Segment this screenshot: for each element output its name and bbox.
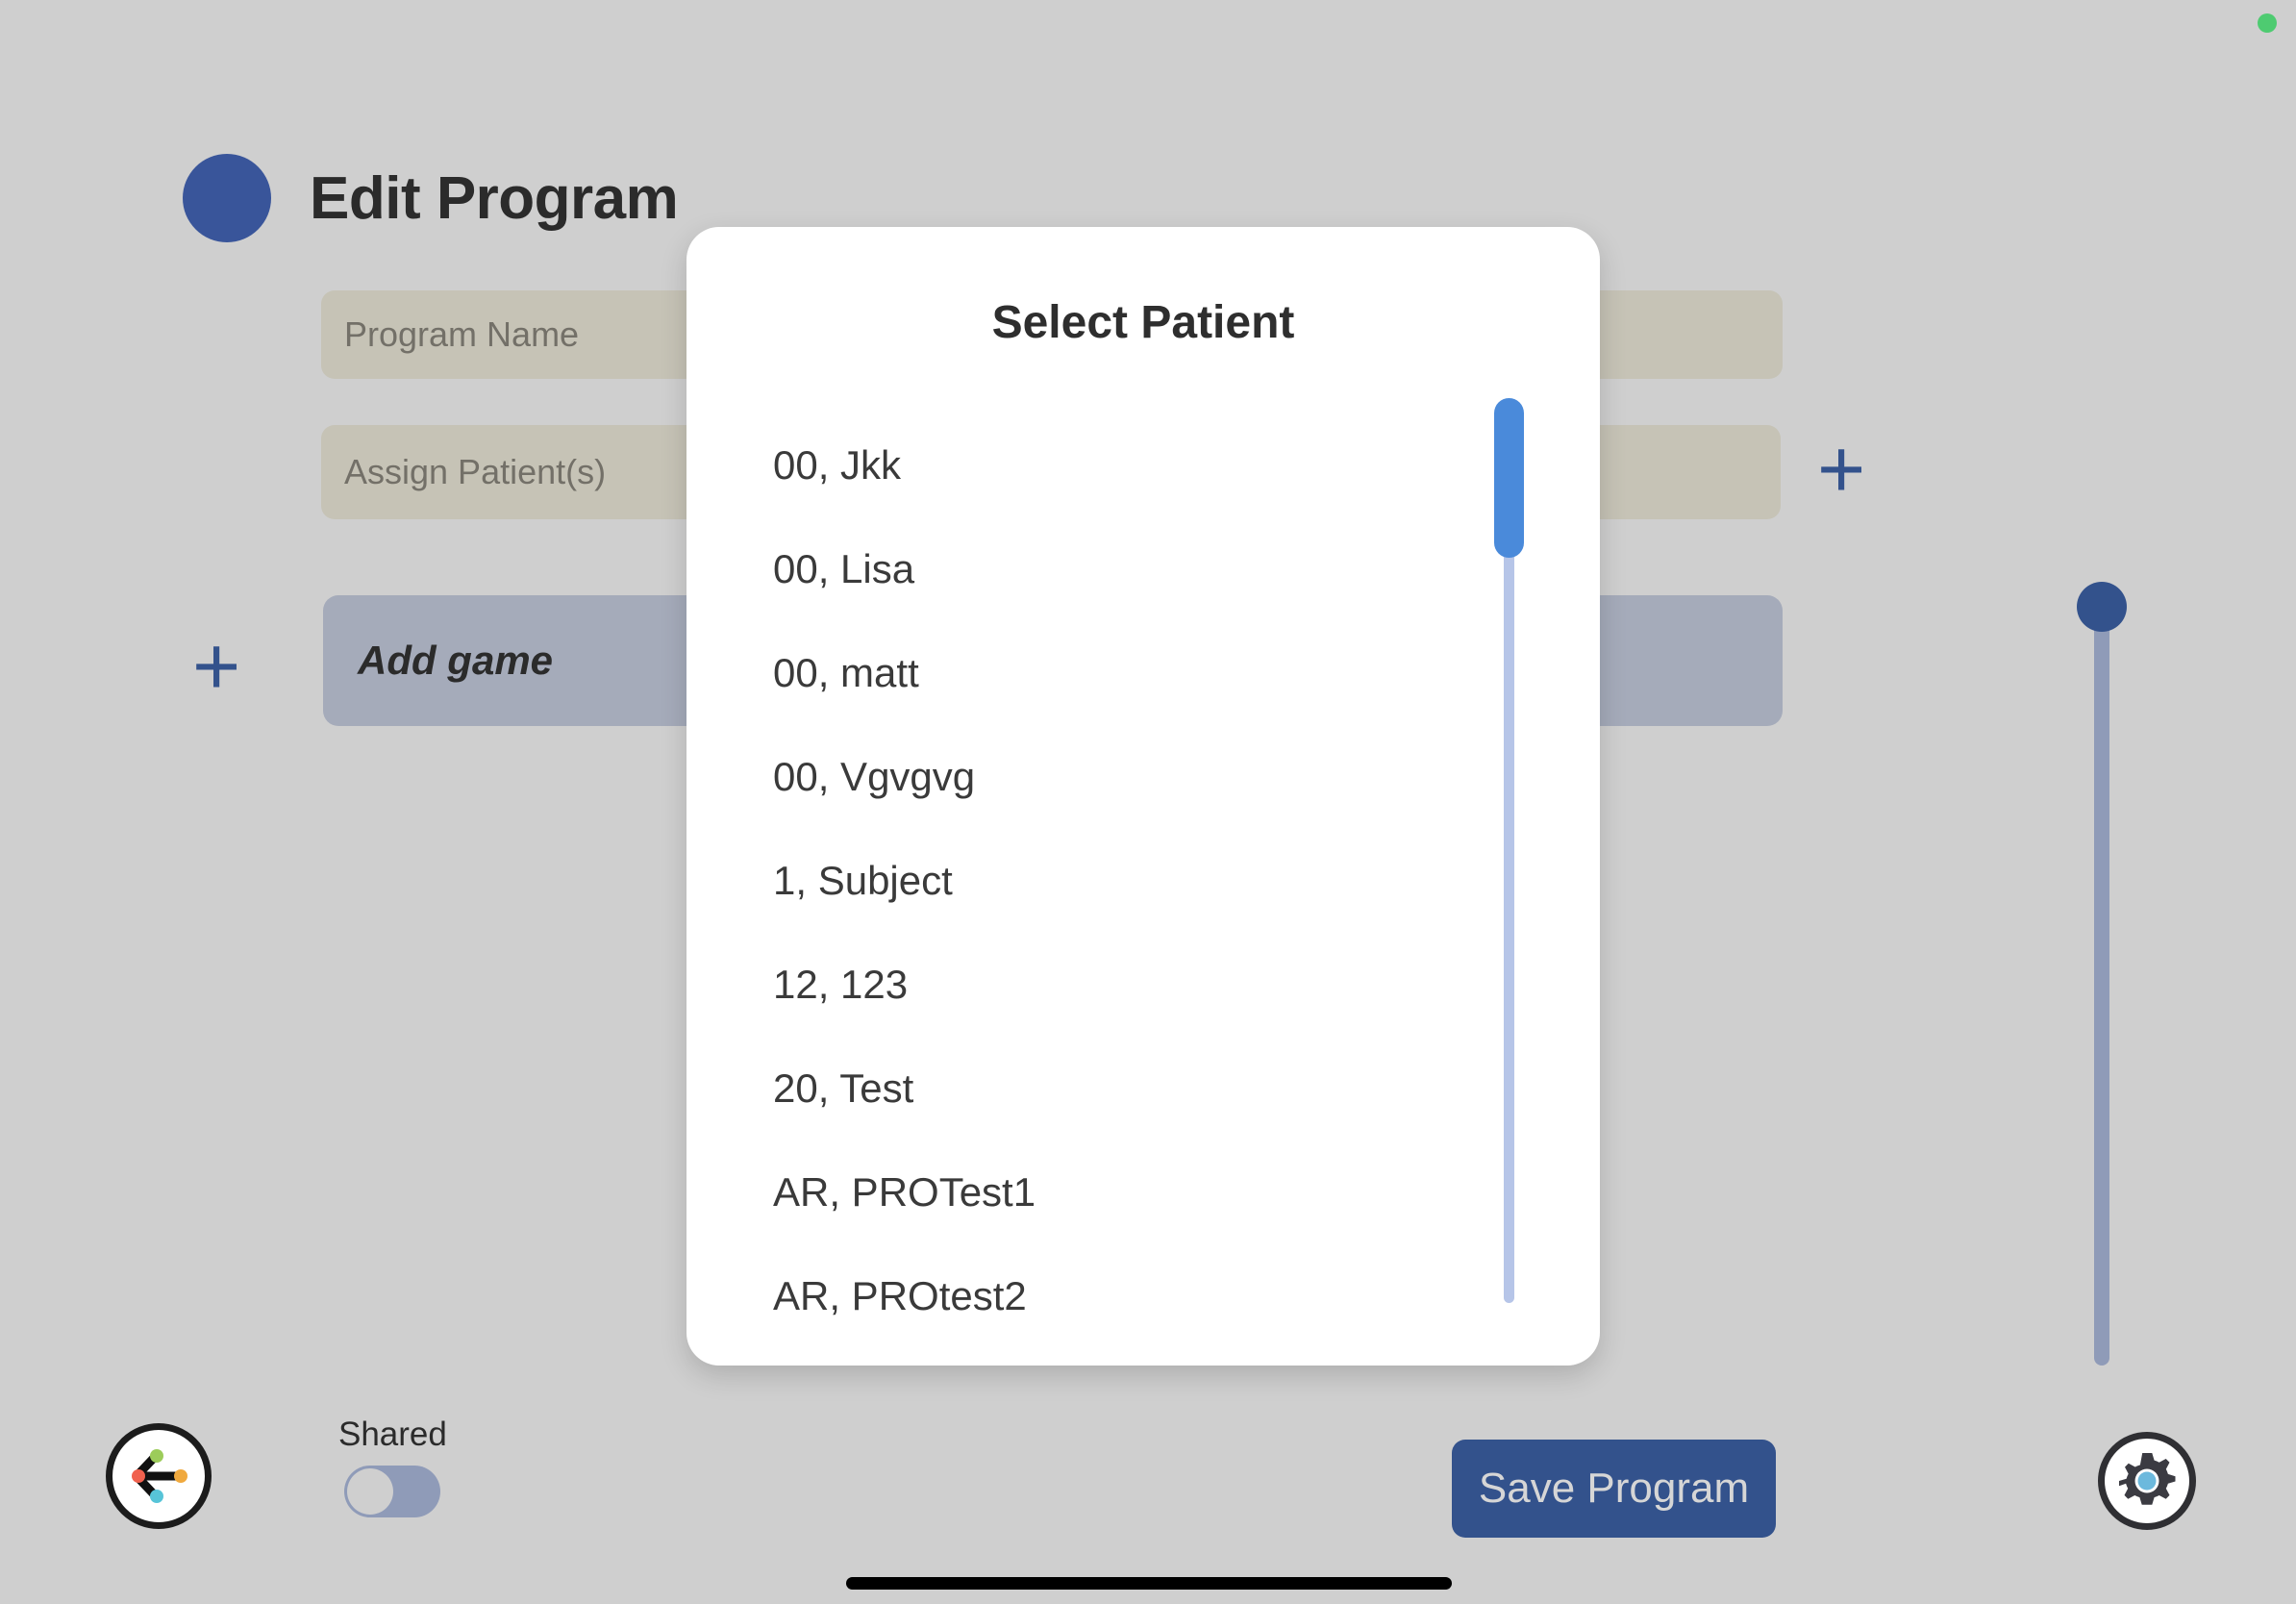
page-header: Edit Program [183, 154, 678, 242]
add-game-plus-icon[interactable]: + [192, 625, 240, 708]
patient-name: 12, 123 [773, 962, 908, 1008]
patient-name: 00, Vgvgvg [773, 754, 975, 800]
back-arrow-icon [123, 1441, 194, 1512]
home-indicator [846, 1577, 1452, 1590]
list-item[interactable]: 1, Subject [686, 829, 1600, 933]
patient-name: 00, Lisa [773, 546, 914, 592]
save-program-label: Save Program [1479, 1465, 1749, 1513]
settings-button[interactable] [2098, 1432, 2196, 1530]
patient-list[interactable]: 00, Jkk00, Lisa00, matt00, Vgvgvg1, Subj… [686, 414, 1600, 1366]
vertical-slider-track[interactable] [2094, 596, 2109, 1366]
vertical-slider-knob[interactable] [2077, 582, 2127, 632]
gear-icon [2115, 1449, 2179, 1513]
assign-patients-placeholder: Assign Patient(s) [344, 452, 606, 492]
list-item[interactable]: AR, PROtest2 [686, 1244, 1600, 1348]
avatar [183, 154, 271, 242]
add-game-label: Add game [358, 638, 553, 684]
list-item[interactable]: AR, PROTest1 [686, 1140, 1600, 1244]
dialog-scrollbar-thumb[interactable] [1494, 398, 1524, 558]
patient-name: 00, Jkk [773, 442, 901, 489]
patient-name: 00, matt [773, 650, 919, 696]
list-item[interactable]: 20, Test [686, 1037, 1600, 1140]
shared-toggle-group: Shared [338, 1416, 447, 1517]
list-item[interactable]: 00, Vgvgvg [686, 725, 1600, 829]
patient-name: 1, Subject [773, 858, 953, 904]
dialog-title: Select Patient [686, 296, 1600, 349]
list-item[interactable]: 00, Lisa [686, 517, 1600, 621]
status-dot-icon [2258, 13, 2277, 33]
list-item[interactable]: 00, matt [686, 621, 1600, 725]
app-screen: Edit Program Program Name Assign Patient… [0, 0, 2296, 1604]
program-name-placeholder: Program Name [344, 314, 579, 355]
list-item[interactable]: 00, Jkk [686, 414, 1600, 517]
list-item[interactable]: 12, 123 [686, 933, 1600, 1037]
shared-toggle[interactable] [344, 1466, 440, 1517]
shared-label: Shared [338, 1416, 447, 1454]
patient-name: AR, PROTest1 [773, 1169, 1036, 1216]
save-program-button[interactable]: Save Program [1452, 1440, 1776, 1538]
page-title: Edit Program [310, 164, 678, 233]
back-button[interactable] [106, 1423, 212, 1529]
patient-name: 20, Test [773, 1065, 913, 1112]
add-patient-plus-icon[interactable]: + [1817, 428, 1865, 511]
shared-toggle-knob [347, 1468, 393, 1515]
select-patient-dialog: Select Patient 00, Jkk00, Lisa00, matt00… [686, 227, 1600, 1366]
patient-name: AR, PROtest2 [773, 1273, 1027, 1319]
